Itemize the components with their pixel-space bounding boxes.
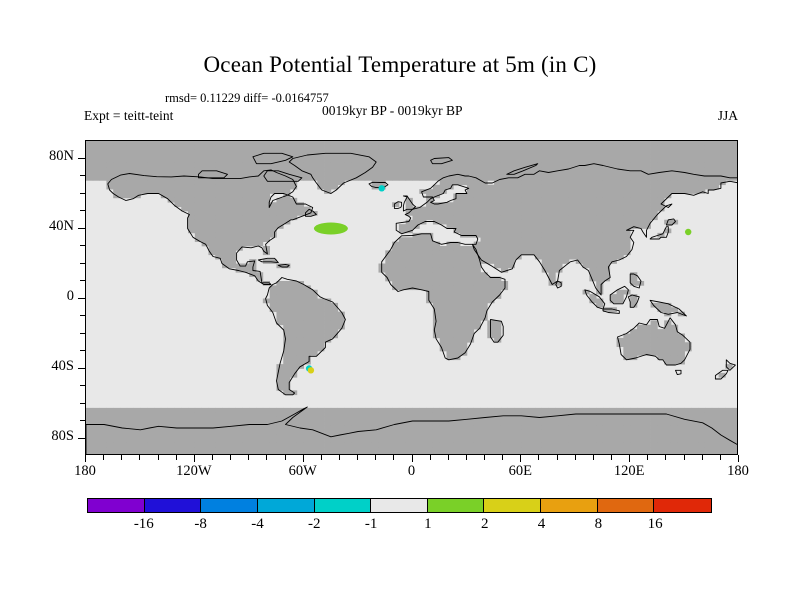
land-cell: [263, 233, 270, 238]
land-cell: [549, 417, 556, 422]
land-cell: [657, 145, 664, 150]
land-cell: [229, 159, 236, 164]
land-cell: [481, 299, 488, 304]
land-cell: [474, 180, 481, 185]
land-cell: [419, 159, 426, 164]
land-cell: [113, 185, 120, 190]
land-cell: [542, 215, 549, 220]
land-cell: [202, 220, 209, 225]
land-cell: [508, 154, 515, 159]
land-cell: [222, 246, 229, 251]
land-cell: [508, 434, 515, 439]
land-cell: [426, 172, 433, 177]
land-cell: [195, 202, 202, 207]
land-cell: [603, 443, 610, 448]
land-cell: [283, 412, 290, 417]
land-cell: [331, 176, 338, 181]
land-cell: [113, 180, 120, 185]
land-cell: [419, 408, 426, 413]
land-cell: [610, 408, 617, 413]
land-cell: [283, 369, 290, 374]
land-cell: [719, 145, 726, 150]
land-cell: [93, 430, 100, 435]
land-cell: [236, 452, 243, 455]
land-cell: [154, 141, 161, 146]
land-cell: [249, 207, 256, 212]
land-cell: [338, 417, 345, 422]
land-cell: [453, 145, 460, 150]
land-cell: [93, 172, 100, 177]
land-cell: [521, 408, 528, 413]
land-cell: [310, 316, 317, 321]
land-cell: [508, 425, 515, 430]
colorbar-segment[interactable]: [598, 499, 655, 512]
land-cell: [453, 303, 460, 308]
land-cell: [515, 215, 522, 220]
land-cell: [725, 443, 732, 448]
land-cell: [134, 189, 141, 194]
land-cell: [732, 447, 738, 452]
land-cell: [324, 176, 331, 181]
land-cell: [331, 316, 338, 321]
land-cell: [630, 189, 637, 194]
land-cell: [256, 185, 263, 190]
land-cell: [419, 215, 426, 220]
land-cell: [331, 447, 338, 452]
land-cell: [494, 167, 501, 172]
land-cell: [100, 150, 107, 155]
land-cell: [181, 159, 188, 164]
land-cell: [562, 452, 569, 455]
land-cell: [712, 425, 719, 430]
land-cell: [623, 347, 630, 352]
land-cell: [447, 150, 454, 155]
land-cell: [671, 163, 678, 168]
land-cell: [181, 447, 188, 452]
land-cell: [297, 159, 304, 164]
land-cell: [324, 172, 331, 177]
land-cell: [426, 268, 433, 273]
land-cell: [385, 434, 392, 439]
land-cell: [637, 215, 644, 220]
land-cell: [603, 172, 610, 177]
land-cell: [447, 202, 454, 207]
land-cell: [426, 294, 433, 299]
land-cell: [181, 198, 188, 203]
land-cell: [474, 207, 481, 212]
land-cell: [589, 189, 596, 194]
land-cell: [657, 434, 664, 439]
land-cell: [181, 176, 188, 181]
land-cell: [385, 145, 392, 150]
land-cell: [596, 202, 603, 207]
land-cell: [630, 172, 637, 177]
land-cell: [562, 215, 569, 220]
land-cell: [467, 194, 474, 199]
land-cell: [215, 233, 222, 238]
land-cell: [283, 325, 290, 330]
land-cell: [583, 439, 590, 444]
land-cell: [576, 224, 583, 229]
land-cell: [596, 430, 603, 435]
land-cell: [603, 242, 610, 247]
land-cell: [433, 447, 440, 452]
land-cell: [630, 334, 637, 339]
land-cell: [671, 430, 678, 435]
land-cell: [181, 189, 188, 194]
land-cell: [508, 259, 515, 264]
land-cell: [535, 439, 542, 444]
colorbar-segment[interactable]: [145, 499, 202, 512]
land-cell: [120, 194, 127, 199]
land-cell: [623, 159, 630, 164]
land-cell: [494, 425, 501, 430]
land-cell: [174, 417, 181, 422]
land-cell: [610, 237, 617, 242]
land-cell: [154, 180, 161, 185]
land-cell: [453, 194, 460, 199]
land-cell: [508, 233, 515, 238]
land-cell: [338, 447, 345, 452]
land-cell: [494, 189, 501, 194]
land-cell: [481, 215, 488, 220]
land-cell: [617, 207, 624, 212]
land-cell: [664, 338, 671, 343]
land-cell: [678, 347, 685, 352]
land-cell: [528, 434, 535, 439]
land-cell: [508, 220, 515, 225]
land-cell: [453, 434, 460, 439]
land-cell: [603, 452, 610, 455]
land-cell: [685, 159, 692, 164]
land-cell: [378, 434, 385, 439]
land-cell: [297, 211, 304, 216]
colorbar-segment[interactable]: [88, 499, 145, 512]
land-cell: [494, 334, 501, 339]
land-cell: [324, 425, 331, 430]
land-cell: [134, 434, 141, 439]
land-cell: [215, 185, 222, 190]
land-cell: [134, 167, 141, 172]
land-cell: [134, 443, 141, 448]
land-cell: [515, 145, 522, 150]
y-tick-major: [78, 158, 85, 159]
land-cell: [276, 154, 283, 159]
land-cell: [208, 154, 215, 159]
land-cell: [569, 141, 576, 146]
land-cell: [100, 154, 107, 159]
land-cell: [719, 159, 726, 164]
colorbar-segment[interactable]: [201, 499, 258, 512]
land-cell: [358, 430, 365, 435]
land-cell: [549, 207, 556, 212]
land-cell: [664, 154, 671, 159]
land-cell: [555, 163, 562, 168]
land-cell: [487, 439, 494, 444]
x-tick-minor: [575, 455, 576, 460]
land-cell: [467, 299, 474, 304]
x-tick-minor: [484, 455, 485, 460]
colorbar-segment[interactable]: [654, 499, 711, 512]
land-cell: [331, 329, 338, 334]
land-cell: [685, 176, 692, 181]
land-cell: [467, 452, 474, 455]
land-cell: [310, 145, 317, 150]
land-cell: [555, 408, 562, 413]
land-cell: [215, 145, 222, 150]
land-cell: [671, 185, 678, 190]
land-cell: [324, 452, 331, 455]
land-cell: [147, 145, 154, 150]
land-cell: [603, 154, 610, 159]
colorbar-segment[interactable]: [541, 499, 598, 512]
land-cell: [589, 250, 596, 255]
land-cell: [453, 215, 460, 220]
land-cell: [378, 452, 385, 455]
land-cell: [392, 268, 399, 273]
land-cell: [283, 351, 290, 356]
land-cell: [440, 412, 447, 417]
anomaly-cell: [379, 185, 385, 191]
colorbar-segment[interactable]: [428, 499, 485, 512]
land-cell: [596, 255, 603, 260]
land-cell: [487, 452, 494, 455]
land-cell: [440, 272, 447, 277]
land-cell: [324, 443, 331, 448]
colorbar-segment[interactable]: [484, 499, 541, 512]
land-cell: [542, 408, 549, 413]
land-cell: [256, 447, 263, 452]
land-cell: [528, 452, 535, 455]
land-cell: [474, 167, 481, 172]
land-cell: [433, 264, 440, 269]
colorbar-segment[interactable]: [258, 499, 315, 512]
land-cell: [317, 417, 324, 422]
land-cell: [630, 185, 637, 190]
land-cell: [236, 207, 243, 212]
land-cell: [86, 159, 93, 164]
land-cell: [344, 447, 351, 452]
land-cell: [399, 447, 406, 452]
land-cell: [521, 434, 528, 439]
land-cell: [140, 189, 147, 194]
land-cell: [426, 250, 433, 255]
land-cell: [460, 443, 467, 448]
land-cell: [698, 185, 705, 190]
land-cell: [413, 211, 420, 216]
land-cell: [542, 443, 549, 448]
x-tick-minor: [176, 455, 177, 460]
land-cell: [474, 185, 481, 190]
colorbar[interactable]: [87, 498, 712, 513]
land-cell: [596, 220, 603, 225]
land-cell: [637, 180, 644, 185]
land-cell: [283, 215, 290, 220]
land-cell: [236, 417, 243, 422]
land-cell: [657, 303, 664, 308]
land-cell: [603, 255, 610, 260]
land-cell: [549, 434, 556, 439]
land-cell: [195, 163, 202, 168]
land-cell: [515, 189, 522, 194]
land-cell: [242, 185, 249, 190]
land-cell: [202, 452, 209, 455]
land-cell: [515, 154, 522, 159]
land-cell: [174, 185, 181, 190]
land-cell: [236, 233, 243, 238]
land-cell: [460, 277, 467, 282]
land-cell: [290, 285, 297, 290]
land-cell: [583, 202, 590, 207]
land-cell: [202, 421, 209, 426]
land-cell: [270, 443, 277, 448]
land-cell: [113, 145, 120, 150]
land-cell: [290, 167, 297, 172]
land-cell: [440, 316, 447, 321]
land-cell: [399, 224, 406, 229]
land-cell: [501, 281, 508, 286]
land-cell: [406, 246, 413, 251]
land-cell: [705, 145, 712, 150]
land-cell: [535, 412, 542, 417]
land-cell: [549, 141, 556, 146]
land-cell: [283, 447, 290, 452]
land-cell: [222, 220, 229, 225]
land-cell: [467, 229, 474, 234]
land-cell: [487, 167, 494, 172]
land-cell: [569, 194, 576, 199]
land-cell: [494, 439, 501, 444]
land-cell: [181, 167, 188, 172]
land-cell: [317, 408, 324, 413]
land-cell: [229, 198, 236, 203]
land-cell: [304, 159, 311, 164]
land-cell: [93, 145, 100, 150]
land-cell: [208, 229, 215, 234]
colorbar-segment[interactable]: [315, 499, 372, 512]
land-cell: [249, 150, 256, 155]
land-cell: [406, 150, 413, 155]
land-cell: [236, 163, 243, 168]
land-cell: [202, 443, 209, 448]
land-cell: [549, 246, 556, 251]
land-cell: [385, 443, 392, 448]
land-cell: [712, 408, 719, 413]
land-cell: [113, 154, 120, 159]
land-cell: [365, 408, 372, 413]
land-cell: [263, 434, 270, 439]
land-cell: [413, 264, 420, 269]
land-cell: [229, 229, 236, 234]
land-cell: [487, 290, 494, 295]
land-cell: [304, 150, 311, 155]
land-cell: [290, 281, 297, 286]
land-cell: [651, 342, 658, 347]
land-cell: [617, 412, 624, 417]
land-cell: [508, 417, 515, 422]
land-cell: [297, 360, 304, 365]
land-cell: [324, 163, 331, 168]
land-cell: [406, 141, 413, 146]
land-cell: [542, 233, 549, 238]
land-cell: [413, 163, 420, 168]
land-cell: [555, 145, 562, 150]
land-cell: [297, 439, 304, 444]
land-cell: [474, 194, 481, 199]
land-cell: [698, 417, 705, 422]
land-cell: [453, 246, 460, 251]
land-cell: [732, 176, 738, 181]
land-cell: [460, 303, 467, 308]
land-cell: [664, 425, 671, 430]
land-cell: [419, 176, 426, 181]
land-cell: [671, 141, 678, 146]
land-cell: [637, 159, 644, 164]
land-cell: [487, 154, 494, 159]
period-annotation: 0019kyr BP - 0019kyr BP: [322, 103, 463, 119]
land-cell: [501, 224, 508, 229]
land-cell: [297, 303, 304, 308]
land-cell: [576, 250, 583, 255]
colorbar-segment[interactable]: [371, 499, 428, 512]
land-cell: [481, 421, 488, 426]
land-cell: [413, 215, 420, 220]
land-cell: [576, 246, 583, 251]
land-cell: [440, 220, 447, 225]
land-cell: [120, 180, 127, 185]
land-cell: [576, 408, 583, 413]
land-cell: [467, 250, 474, 255]
land-cell: [215, 207, 222, 212]
land-cell: [664, 351, 671, 356]
land-cell: [508, 430, 515, 435]
land-cell: [651, 434, 658, 439]
land-cell: [698, 145, 705, 150]
land-cell: [576, 207, 583, 212]
land-cell: [317, 299, 324, 304]
land-cell: [215, 202, 222, 207]
land-cell: [440, 246, 447, 251]
land-cell: [685, 154, 692, 159]
land-cell: [283, 207, 290, 212]
land-cell: [549, 255, 556, 260]
land-cell: [521, 443, 528, 448]
land-cell: [515, 421, 522, 426]
land-cell: [732, 154, 738, 159]
land-cell: [399, 412, 406, 417]
land-cell: [195, 452, 202, 455]
land-cell: [202, 439, 209, 444]
land-cell: [249, 211, 256, 216]
land-cell: [555, 447, 562, 452]
land-cell: [589, 430, 596, 435]
land-cell: [290, 342, 297, 347]
land-cell: [256, 412, 263, 417]
land-cell: [378, 439, 385, 444]
land-cell: [86, 434, 93, 439]
land-cell: [310, 303, 317, 308]
y-tick-minor: [80, 350, 85, 351]
land-cell: [120, 163, 127, 168]
land-cell: [242, 447, 249, 452]
land-cell: [174, 172, 181, 177]
land-cell: [426, 408, 433, 413]
land-cell: [378, 159, 385, 164]
land-cell: [188, 430, 195, 435]
land-cell: [447, 268, 454, 273]
land-cell: [501, 421, 508, 426]
land-cell: [406, 159, 413, 164]
